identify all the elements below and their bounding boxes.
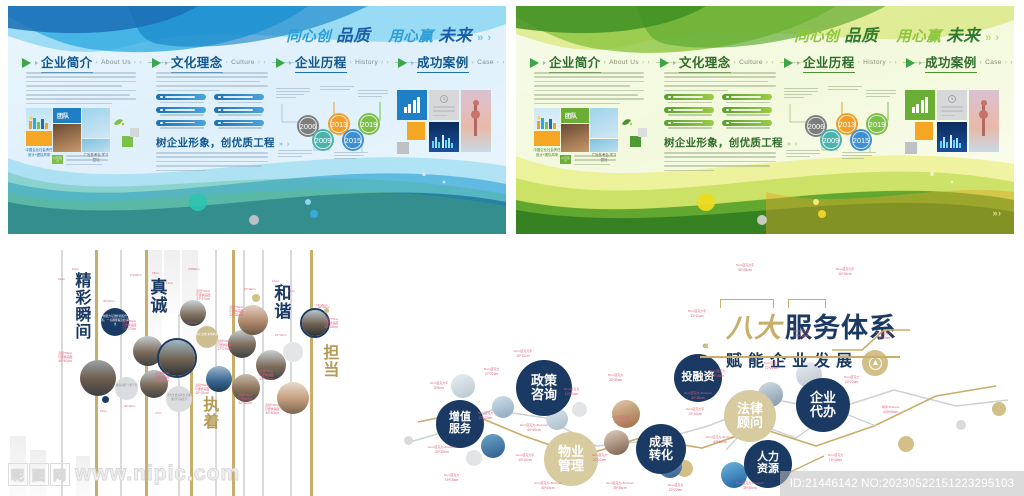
history-timeline: 2006 2009 2013 2015 2019 bbox=[784, 88, 896, 166]
wall-dim-block: 直径*50cm可更换画面40*40cm bbox=[58, 352, 72, 364]
culture-headline: 树企业形象，创优质工程 » › bbox=[156, 135, 289, 150]
timeline-year: 2019 bbox=[361, 120, 378, 129]
wall-dim-block: 直径*70cm可更换画面32*32cm bbox=[238, 394, 252, 406]
section-title-en: Culture bbox=[739, 59, 763, 66]
stamp-text: ID:21446142 NO:20230522151223295103 bbox=[790, 478, 1014, 490]
wall-dim-label: 27*27cm bbox=[186, 322, 197, 326]
photo-meeting bbox=[561, 124, 589, 152]
small-triangle-icon bbox=[165, 61, 168, 65]
case-image-grid bbox=[397, 90, 497, 164]
timeline-year: 2013 bbox=[839, 120, 856, 129]
service-photo-circle[interactable] bbox=[492, 396, 514, 418]
wall-dot-navy bbox=[102, 396, 109, 403]
collage-badge-text: 公司 简介 bbox=[560, 155, 571, 164]
service-end-dot bbox=[956, 420, 966, 430]
photo-wall-layout: 精彩瞬间 真诚 和谐 担当 执着 bbox=[0, 250, 430, 496]
culture-tag-column-1 bbox=[156, 94, 206, 133]
timeline-node-2015[interactable]: 2015 bbox=[342, 129, 364, 151]
wall-dim-block: 直径*70cm可更换画面32*32cm bbox=[324, 318, 338, 330]
title-bracket-right bbox=[788, 299, 826, 308]
service-dim-label: 5mm亚克力10*10cm bbox=[564, 388, 579, 396]
wall-text-circle-gray[interactable]: 努力才会有机会 追求我为行动的力 bbox=[166, 386, 192, 412]
tail-arrow1: › bbox=[1005, 60, 1008, 66]
wall-dim-label: 15cm bbox=[100, 410, 107, 414]
section-title-en: About Us bbox=[609, 59, 639, 66]
about-paragraph bbox=[534, 72, 644, 107]
play-triangle-icon bbox=[906, 58, 915, 68]
culture-tag-column-2 bbox=[214, 94, 264, 133]
wall-dim-block: 直径*30cm可更换画面32*32cm bbox=[229, 306, 243, 318]
case-tile-tower bbox=[461, 90, 491, 152]
service-dim-label: 2mm亚克力+5mmpvc30*35cm bbox=[684, 392, 712, 400]
sep-arrow: › bbox=[226, 60, 229, 66]
photo-building bbox=[82, 139, 110, 152]
service-dim-label: 5mm亚克力字16*16cm bbox=[836, 268, 854, 276]
collage-badge: 公司 简介 bbox=[560, 155, 571, 164]
service-decor-dot bbox=[898, 436, 914, 452]
tail-arrow2: › bbox=[1010, 60, 1013, 66]
section-header-case[interactable]: 成功案例 › Case › › bbox=[906, 52, 1014, 73]
timeline-note bbox=[784, 88, 818, 100]
wall-dim-label: 10*10cm bbox=[275, 334, 286, 338]
leaf-decor-icon bbox=[114, 118, 124, 126]
timeline-note bbox=[278, 150, 312, 159]
slogan-part4: 未来 bbox=[438, 22, 472, 46]
timeline-note bbox=[842, 152, 876, 161]
service-dim-label: 5mm亚克力15*15cm bbox=[444, 474, 459, 482]
gray-square-decor bbox=[130, 128, 139, 137]
service-label-line2: 资源 bbox=[757, 464, 779, 476]
tail-arrow1: › bbox=[642, 60, 645, 66]
timeline-year: 2009 bbox=[315, 136, 332, 145]
culture-tag[interactable] bbox=[722, 107, 772, 113]
service-dim-label: 5mm亚克力22*22cm bbox=[478, 412, 493, 420]
collage-caption-left: 中国企业社会责任 设计+团队风采 bbox=[532, 148, 562, 158]
culture-headline-text: 树企业形象，创优质工程 bbox=[156, 135, 275, 150]
wall-dim-label: 4*cm bbox=[155, 412, 162, 416]
wall-dim-label: 15cm bbox=[58, 278, 65, 282]
slogan-part3: 用心赢 bbox=[896, 25, 941, 46]
service-dim-label: 5mm亚克力字11*11cm bbox=[688, 310, 706, 318]
chevron-left-icon: ‹‹‹ bbox=[702, 340, 707, 352]
timeline-year: 2015 bbox=[853, 136, 870, 145]
nipic-watermark: 昵 图 网 www.nipic.com bbox=[8, 462, 240, 486]
wall-dim-label: 4*290cm bbox=[188, 268, 199, 272]
service-dim-label: 5mm亚克力22*22cm bbox=[592, 454, 607, 462]
collage-note bbox=[574, 155, 616, 168]
timeline-node-2009[interactable]: 2009 bbox=[312, 129, 334, 151]
culture-tag[interactable] bbox=[214, 94, 264, 100]
service-dim-label: 5mm亚克力22*22cm bbox=[844, 376, 859, 384]
culture-tag-column-2 bbox=[722, 94, 772, 133]
culture-tag[interactable] bbox=[664, 120, 714, 126]
small-triangle-icon bbox=[673, 61, 676, 65]
wall-circle-text: 进取对则 千里千行 bbox=[115, 377, 138, 388]
service-dim-label: 2mm亚克力+5mmpvc40*40cm bbox=[534, 482, 562, 490]
wall-word-2: 真诚 bbox=[148, 278, 165, 314]
wall-photo-circle[interactable] bbox=[206, 366, 232, 392]
tail-arrow1: › bbox=[889, 60, 892, 66]
wall-strip-gray bbox=[61, 250, 63, 496]
case-tile-tower bbox=[969, 90, 999, 152]
blue-culture-wall-panel: 同心创 品质 用心赢 未来 » › 企业简介 › About Us › › bbox=[8, 6, 506, 234]
wall-dot-gold bbox=[252, 294, 260, 302]
about-photo-collage: 团队 中国企业社会责任 设计+团队风采 广旨参考会 学习园地 公司 简介 bbox=[534, 108, 620, 164]
small-triangle-icon bbox=[411, 61, 414, 65]
culture-headline: 树企业形象，创优质工程 » › bbox=[664, 135, 797, 150]
wall-dim-label: 15cm bbox=[152, 272, 159, 276]
city-illustration-icon bbox=[536, 116, 558, 129]
tail-arrow1: › bbox=[258, 60, 261, 66]
service-label-line2: 转化 bbox=[649, 449, 673, 462]
case-tile-gray bbox=[905, 142, 917, 154]
wall-strip-gold bbox=[232, 250, 235, 496]
wall-word-3: 和谐 bbox=[272, 284, 289, 320]
wall-dim-label: 10*10cm bbox=[244, 288, 255, 292]
nipic-url: www.nipic.com bbox=[75, 462, 240, 486]
culture-footer-paragraph bbox=[156, 152, 268, 174]
timeline-year: 2015 bbox=[345, 136, 362, 145]
section-title-en: History bbox=[863, 59, 886, 66]
timeline-node-2019[interactable]: 2019 bbox=[358, 113, 380, 135]
green-culture-wall-panel: 同心创 品质 用心赢 未来 » › 企业简介 › About Us › › bbox=[516, 6, 1014, 234]
case-tile-night-city bbox=[937, 122, 967, 152]
photo-team-label: 团队 bbox=[561, 108, 589, 123]
timeline-year: 2006 bbox=[808, 122, 825, 131]
wall-dim-label: 40*40cm bbox=[124, 405, 135, 409]
service-label-line2: 代办 bbox=[810, 405, 836, 419]
case-tile-orange bbox=[915, 122, 933, 140]
tail-arrow1: › bbox=[497, 60, 500, 66]
wall-word-1: 精彩瞬间 bbox=[72, 272, 88, 340]
timeline-note bbox=[334, 152, 368, 161]
wall-strip-gray bbox=[120, 250, 122, 496]
green-square-decor bbox=[630, 136, 641, 147]
city-illustration-icon bbox=[28, 116, 50, 129]
culture-paragraph bbox=[156, 72, 268, 94]
history-timeline: 2006 2009 2013 2015 2019 bbox=[276, 88, 388, 166]
service-dim-label: 5mm亚克力15*15cm bbox=[710, 370, 725, 378]
tail-arrow2: › bbox=[648, 60, 651, 66]
wall-word-4: 担当 bbox=[320, 344, 336, 378]
service-label-line1: 法律 bbox=[737, 402, 763, 416]
section-title-cn: 企业简介 bbox=[549, 52, 601, 73]
case-tile-night-city bbox=[429, 122, 459, 152]
service-dim-label: 2mm亚克力字10*10cm bbox=[516, 454, 534, 462]
slogan-arrow1: » bbox=[477, 32, 482, 44]
service-dim-label: 5mm亚克力15*15cm bbox=[828, 454, 843, 462]
photo-orange-tile bbox=[26, 131, 52, 146]
poster-canvas: 同心创 品质 用心赢 未来 » › 企业简介 › About Us › › bbox=[0, 0, 1024, 496]
wall-dim-block: 直径*60cm可更换画面35*35cm bbox=[155, 372, 169, 384]
photo-meeting bbox=[53, 124, 81, 152]
wall-dim-block: 直径*70cm可更换画面27*27cm bbox=[259, 370, 273, 382]
photo-orange-tile bbox=[534, 131, 560, 146]
section-title-cn: 企业历程 bbox=[295, 52, 347, 73]
service-dim-label: 2mm亚克力+5mmpvc40*40cm bbox=[706, 436, 734, 444]
about-paragraph bbox=[26, 72, 136, 107]
play-triangle-icon bbox=[152, 58, 161, 68]
sep-arrow: › bbox=[604, 60, 607, 66]
wall-photo-circle[interactable] bbox=[277, 382, 309, 414]
sep-arrow: › bbox=[350, 60, 353, 66]
service-label-line2: 管理 bbox=[558, 459, 584, 473]
photo-building bbox=[590, 139, 618, 152]
service-dim-label: 5mm亚克力27*22cm bbox=[484, 368, 499, 376]
play-triangle-icon bbox=[22, 58, 31, 68]
timeline-year: 2009 bbox=[823, 136, 840, 145]
collage-team-label: 团队 bbox=[561, 108, 589, 120]
wall-dim-block: 直径*50cm可更换画面32*32cm bbox=[195, 384, 209, 396]
collage-badge-text: 公司 简介 bbox=[52, 155, 63, 164]
timeline-note bbox=[786, 150, 820, 159]
timeline-note bbox=[866, 90, 900, 99]
service-dim-label: 2mm亚克力+5mmpvc30*300m bbox=[428, 446, 456, 454]
timeline-note bbox=[828, 86, 862, 92]
wall-text-circle-gold[interactable]: 用心去做 事情本身 bbox=[196, 326, 218, 348]
play-triangle-icon bbox=[398, 58, 407, 68]
culture-tag[interactable] bbox=[722, 120, 772, 126]
culture-tag[interactable] bbox=[664, 107, 714, 113]
wall-dim-label: 15cm bbox=[166, 282, 173, 286]
tail-arrow1: › bbox=[134, 60, 137, 66]
play-triangle-icon bbox=[660, 58, 669, 68]
service-photo-circle[interactable] bbox=[604, 430, 629, 455]
section-header-case[interactable]: 成功案例 › Case › › bbox=[398, 52, 506, 73]
title-underline bbox=[700, 356, 900, 358]
small-triangle-icon bbox=[797, 61, 800, 65]
about-photo-collage: 团队 中国企业社会责任 设计+团队风采 广旨参考会 学习园地 公司 简介 bbox=[26, 108, 112, 164]
wall-dim-label: 15cm bbox=[288, 290, 295, 294]
service-end-dot bbox=[404, 436, 413, 445]
image-id-stamp: ID:21446142 NO:20230522151223295103 bbox=[780, 471, 1024, 496]
collage-badge: 公司 简介 bbox=[52, 155, 63, 164]
culture-tag[interactable] bbox=[722, 94, 772, 100]
service-dim-label: 5mm亚克力19*168m bbox=[794, 330, 809, 338]
bar-chart-icon bbox=[912, 98, 929, 113]
service-dim-label: 2mm亚克力+5mmpvc40*40cm bbox=[520, 424, 548, 432]
wall-dim-block: 直径*30cm可更换画面27*27cm bbox=[217, 340, 231, 352]
wall-dim-label: 2*100cm bbox=[130, 274, 141, 278]
tail-arrow2: › bbox=[771, 60, 774, 66]
timeline-node-2009[interactable]: 2009 bbox=[820, 129, 842, 151]
timeline-note bbox=[358, 90, 392, 99]
tail-arrow2: › bbox=[263, 60, 266, 66]
timeline-node-2019[interactable]: 2019 bbox=[866, 113, 888, 135]
service-label-line1: 物业 bbox=[558, 445, 584, 459]
service-decor-dot bbox=[992, 402, 1006, 416]
wall-text-circle-gray bbox=[283, 342, 303, 362]
photo-team-label: 团队 bbox=[53, 108, 81, 123]
wall-circle-text: 努力才会有机会 追求我为行动的力 bbox=[166, 386, 192, 402]
clock-icon bbox=[440, 95, 448, 103]
sep-arrow: › bbox=[734, 60, 737, 66]
service-node-3[interactable]: 物业 管理 bbox=[544, 432, 598, 486]
section-title-en: Case bbox=[477, 59, 494, 66]
service-label-line2: 服务 bbox=[449, 424, 471, 436]
service-title-block: 八大 服务体系 赋能企业发展 ‹‹‹ bbox=[726, 306, 897, 371]
service-dim-label: 2mm亚克力字8*8cm bbox=[430, 382, 448, 390]
collage-note bbox=[66, 155, 108, 168]
tail-arrow1: › bbox=[766, 60, 769, 66]
slogan-arrow2: › bbox=[487, 32, 490, 44]
nipic-cn-logo: 昵 图 网 bbox=[8, 463, 70, 486]
service-photo-circle[interactable] bbox=[451, 374, 475, 398]
wall-dim-block: 直径*40cm可更换画面40*40cm bbox=[265, 404, 279, 416]
service-node-1[interactable]: 增值 服务 bbox=[436, 400, 484, 448]
timeline-node-2015[interactable]: 2015 bbox=[850, 129, 872, 151]
timeline-note bbox=[276, 88, 310, 100]
culture-tag[interactable] bbox=[156, 120, 206, 126]
service-dim-label: 2mm亚克力字10*10cm bbox=[686, 408, 704, 416]
wall-dim-block: 直径*30cm可更换画面27*27cm bbox=[196, 290, 210, 302]
case-tile-text bbox=[429, 90, 459, 120]
sep-arrow: › bbox=[980, 60, 983, 66]
service-node-4[interactable]: 成果 转化 bbox=[636, 424, 686, 474]
wall-dim-label: 15cm bbox=[272, 280, 279, 284]
service-node-7[interactable]: 企业 代办 bbox=[796, 378, 850, 432]
small-triangle-icon bbox=[919, 61, 922, 65]
service-decor-dot bbox=[466, 450, 482, 466]
section-title-cn: 企业历程 bbox=[803, 52, 855, 73]
service-label-line2: 顾问 bbox=[737, 416, 763, 430]
culture-tag[interactable] bbox=[664, 94, 714, 100]
wall-strip-gold bbox=[310, 250, 313, 496]
slogan-part1: 同心创 bbox=[286, 25, 331, 46]
play-triangle-icon bbox=[276, 58, 285, 68]
wall-photo-circle[interactable] bbox=[80, 360, 116, 396]
section-title-cn: 企业简介 bbox=[41, 52, 93, 73]
culture-tag[interactable] bbox=[156, 107, 206, 113]
slogan-blue: 同心创 品质 用心赢 未来 » › bbox=[286, 22, 490, 46]
leaf-decor-icon bbox=[622, 118, 632, 126]
title-arrow-decor bbox=[832, 326, 910, 354]
timeline-year: 2013 bbox=[331, 120, 348, 129]
bar-chart-icon bbox=[404, 98, 421, 113]
play-triangle-icon bbox=[784, 58, 793, 68]
case-tile-chart bbox=[905, 90, 935, 120]
culture-paragraph bbox=[664, 72, 776, 94]
culture-tag[interactable] bbox=[214, 107, 264, 113]
play-triangle-icon bbox=[530, 58, 539, 68]
culture-tag[interactable] bbox=[214, 120, 264, 126]
wall-circle-text: 用心去做 事情本身 bbox=[196, 326, 218, 337]
case-image-grid bbox=[905, 90, 1005, 164]
section-title-en: History bbox=[355, 59, 378, 66]
culture-headline-text: 树企业形象，创优质工程 bbox=[664, 135, 783, 150]
case-tile-chart bbox=[397, 90, 427, 120]
wall-strip-gray bbox=[290, 250, 292, 496]
collage-caption-left: 中国企业社会责任 设计+团队风采 bbox=[24, 148, 54, 158]
small-triangle-icon bbox=[35, 61, 38, 65]
slogan-arrow2: › bbox=[995, 32, 998, 44]
green-square-decor bbox=[122, 136, 133, 147]
small-triangle-icon bbox=[289, 61, 292, 65]
slogan-part2: 品质 bbox=[336, 22, 370, 46]
sep-arrow: › bbox=[96, 60, 99, 66]
wall-text-circle-gray[interactable]: 进取对则 千里千行 bbox=[115, 377, 138, 400]
service-photo-circle[interactable] bbox=[481, 434, 505, 458]
section-title-en: Culture bbox=[231, 59, 255, 66]
section-title-cn: 成功案例 bbox=[417, 52, 469, 73]
title-bracket-left bbox=[720, 299, 774, 308]
slogan-part3: 用心赢 bbox=[388, 25, 433, 46]
tail-arrow1: › bbox=[381, 60, 384, 66]
service-dim-label: 5mm亚克力22*22cm bbox=[668, 484, 683, 492]
wall-dim-label: 15cm bbox=[72, 268, 79, 272]
wall-dim-block: 直径*50cm可更换画面27*27cm bbox=[122, 320, 136, 332]
service-dim-label: 2mm亚克力+5mmpvc35*35cm bbox=[736, 482, 764, 490]
sep-arrow: › bbox=[472, 60, 475, 66]
wall-dim-label: 30*30cm bbox=[318, 306, 329, 310]
slogan-part4: 未来 bbox=[946, 22, 980, 46]
case-tile-orange bbox=[407, 122, 425, 140]
service-label-line1: 政策 bbox=[531, 374, 557, 388]
service-system-layout: 增值 服务 政策 咨询 物业 管理 成果 转化 投融资 法律 顾问 企业 代办 … bbox=[396, 250, 1024, 496]
tail-arrow2: › bbox=[140, 60, 143, 66]
slogan-part2: 品质 bbox=[844, 22, 878, 46]
service-title-a: 八大 bbox=[726, 306, 782, 345]
service-dim-label: 5mm亚克力16*74cm bbox=[876, 332, 891, 340]
wall-word-5: 执着 bbox=[200, 396, 216, 430]
sep-arrow: › bbox=[858, 60, 861, 66]
service-dim-label: 2mm亚克力字10*10cm bbox=[514, 350, 532, 358]
green-corner-arrows: » › bbox=[992, 208, 1000, 218]
collage-team-label: 团队 bbox=[53, 108, 81, 120]
section-title-en: Case bbox=[985, 59, 1002, 66]
service-label-line2: 咨询 bbox=[531, 388, 557, 402]
tail-arrow2: › bbox=[502, 60, 505, 66]
service-dim-label: 2mm亚克力+5mmpvc35*35cm bbox=[606, 482, 634, 490]
service-dim-label: 烤漆 5mmpvc445*65cm bbox=[882, 406, 900, 414]
wall-dim-label: 40*40cm bbox=[103, 300, 114, 304]
timeline-note bbox=[320, 86, 354, 92]
section-title-en: About Us bbox=[101, 59, 131, 66]
tail-arrow2: › bbox=[387, 60, 390, 66]
service-dim-label: 5mm亚克力字50*26cm bbox=[736, 264, 754, 272]
gray-square-decor bbox=[638, 128, 647, 137]
section-title-cn: 文化理念 bbox=[171, 52, 223, 73]
case-tile-text bbox=[937, 90, 967, 120]
tail-arrow2: › bbox=[895, 60, 898, 66]
section-title-cn: 成功案例 bbox=[925, 52, 977, 73]
service-dim-label: 5mm亚克力30*30cm bbox=[608, 374, 623, 382]
culture-tag[interactable] bbox=[156, 94, 206, 100]
photo-mountain bbox=[590, 108, 618, 138]
small-triangle-icon bbox=[543, 61, 546, 65]
timeline-year: 2006 bbox=[300, 122, 317, 131]
culture-tag-column-1 bbox=[664, 94, 714, 133]
slogan-arrow1: » bbox=[985, 32, 990, 44]
service-label-line1: 企业 bbox=[810, 391, 836, 405]
timeline-year: 2019 bbox=[869, 120, 886, 129]
service-decor-dot bbox=[572, 402, 587, 417]
culture-footer-paragraph bbox=[664, 152, 776, 174]
slogan-green: 同心创 品质 用心赢 未来 » › bbox=[794, 22, 998, 46]
clock-icon bbox=[948, 95, 956, 103]
service-dim-label: 2mm亚克力字10*10cm bbox=[612, 416, 630, 424]
photo-mountain bbox=[82, 108, 110, 138]
section-title-cn: 文化理念 bbox=[679, 52, 731, 73]
case-tile-gray bbox=[397, 142, 409, 154]
slogan-part1: 同心创 bbox=[794, 25, 839, 46]
service-dim-label: 5mm亚克力22*22cm bbox=[764, 362, 779, 370]
